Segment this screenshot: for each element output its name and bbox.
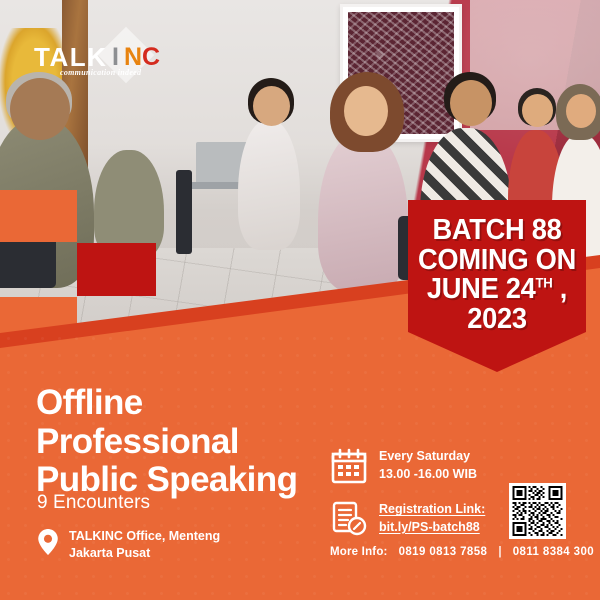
registration-link[interactable]: bit.ly/PS-batch88: [379, 519, 485, 537]
contact-phone-1[interactable]: 0819 0813 7858: [399, 546, 488, 558]
qr-code-graphic: [512, 486, 563, 536]
photo-person: [238, 120, 300, 250]
batch-line-1: BATCH 88: [413, 216, 580, 246]
headline-subtitle: 9 Encounters: [37, 492, 150, 514]
photo-person-head: [450, 80, 492, 126]
contact-block: More Info: 0819 0813 7858 | 0811 8384 30…: [330, 546, 594, 558]
contact-phone-2[interactable]: 0811 8384 300: [513, 546, 594, 558]
decor-square-orange-top: [0, 190, 77, 242]
photo-person-head: [566, 94, 596, 128]
batch-date-ordinal: TH: [536, 275, 553, 291]
batch-line-2: COMING ON: [413, 246, 580, 276]
batch-date-prefix: JUNE 24: [427, 273, 536, 305]
location-line-2: Jakarta Pusat: [69, 545, 220, 562]
photo-person: [318, 132, 408, 292]
calendar-icon: [330, 447, 368, 485]
batch-date-suffix: ,: [553, 273, 568, 305]
headline-line-2: Professional: [36, 423, 297, 462]
schedule-line-2: 13.00 -16.00 WIB: [379, 466, 477, 484]
logo-tagline: communication indeed: [60, 68, 141, 77]
talkinc-logo[interactable]: TALK I N C communication indeed: [34, 38, 162, 80]
batch-line-3: JUNE 24TH ,: [413, 275, 580, 305]
registration-block[interactable]: Registration Link: bit.ly/PS-batch88: [330, 500, 485, 538]
page-title: Offline Professional Public Speaking: [36, 384, 297, 500]
qr-code[interactable]: [509, 483, 566, 539]
registration-text: Registration Link: bit.ly/PS-batch88: [379, 501, 485, 537]
photo-person-head: [522, 94, 553, 127]
location-text: TALKINC Office, Menteng Jakarta Pusat: [69, 528, 220, 563]
schedule-block: Every Saturday 13.00 -16.00 WIB: [330, 447, 477, 485]
headline-line-1: Offline: [36, 384, 297, 423]
document-pen-icon: [330, 500, 368, 538]
photo-person-head: [344, 86, 388, 136]
schedule-line-1: Every Saturday: [379, 448, 477, 466]
map-pin-icon: [38, 529, 58, 555]
batch-line-4: 2023: [413, 305, 580, 335]
contact-separator: |: [498, 546, 501, 558]
batch-banner-text: BATCH 88 COMING ON JUNE 24TH , 2023: [413, 216, 580, 334]
poster-canvas: TALK I N C communication indeed BATCH 88…: [0, 0, 600, 600]
location-block: TALKINC Office, Menteng Jakarta Pusat: [38, 528, 220, 563]
registration-label: Registration Link:: [379, 501, 485, 519]
contact-label: More Info:: [330, 546, 388, 558]
logo-text-c: C: [142, 43, 160, 72]
location-line-1: TALKINC Office, Menteng: [69, 528, 220, 545]
photo-chair: [176, 170, 192, 254]
photo-person-head: [253, 86, 290, 126]
decor-square-red: [77, 243, 156, 296]
schedule-text: Every Saturday 13.00 -16.00 WIB: [379, 448, 477, 484]
photo-person-head: [10, 78, 70, 140]
